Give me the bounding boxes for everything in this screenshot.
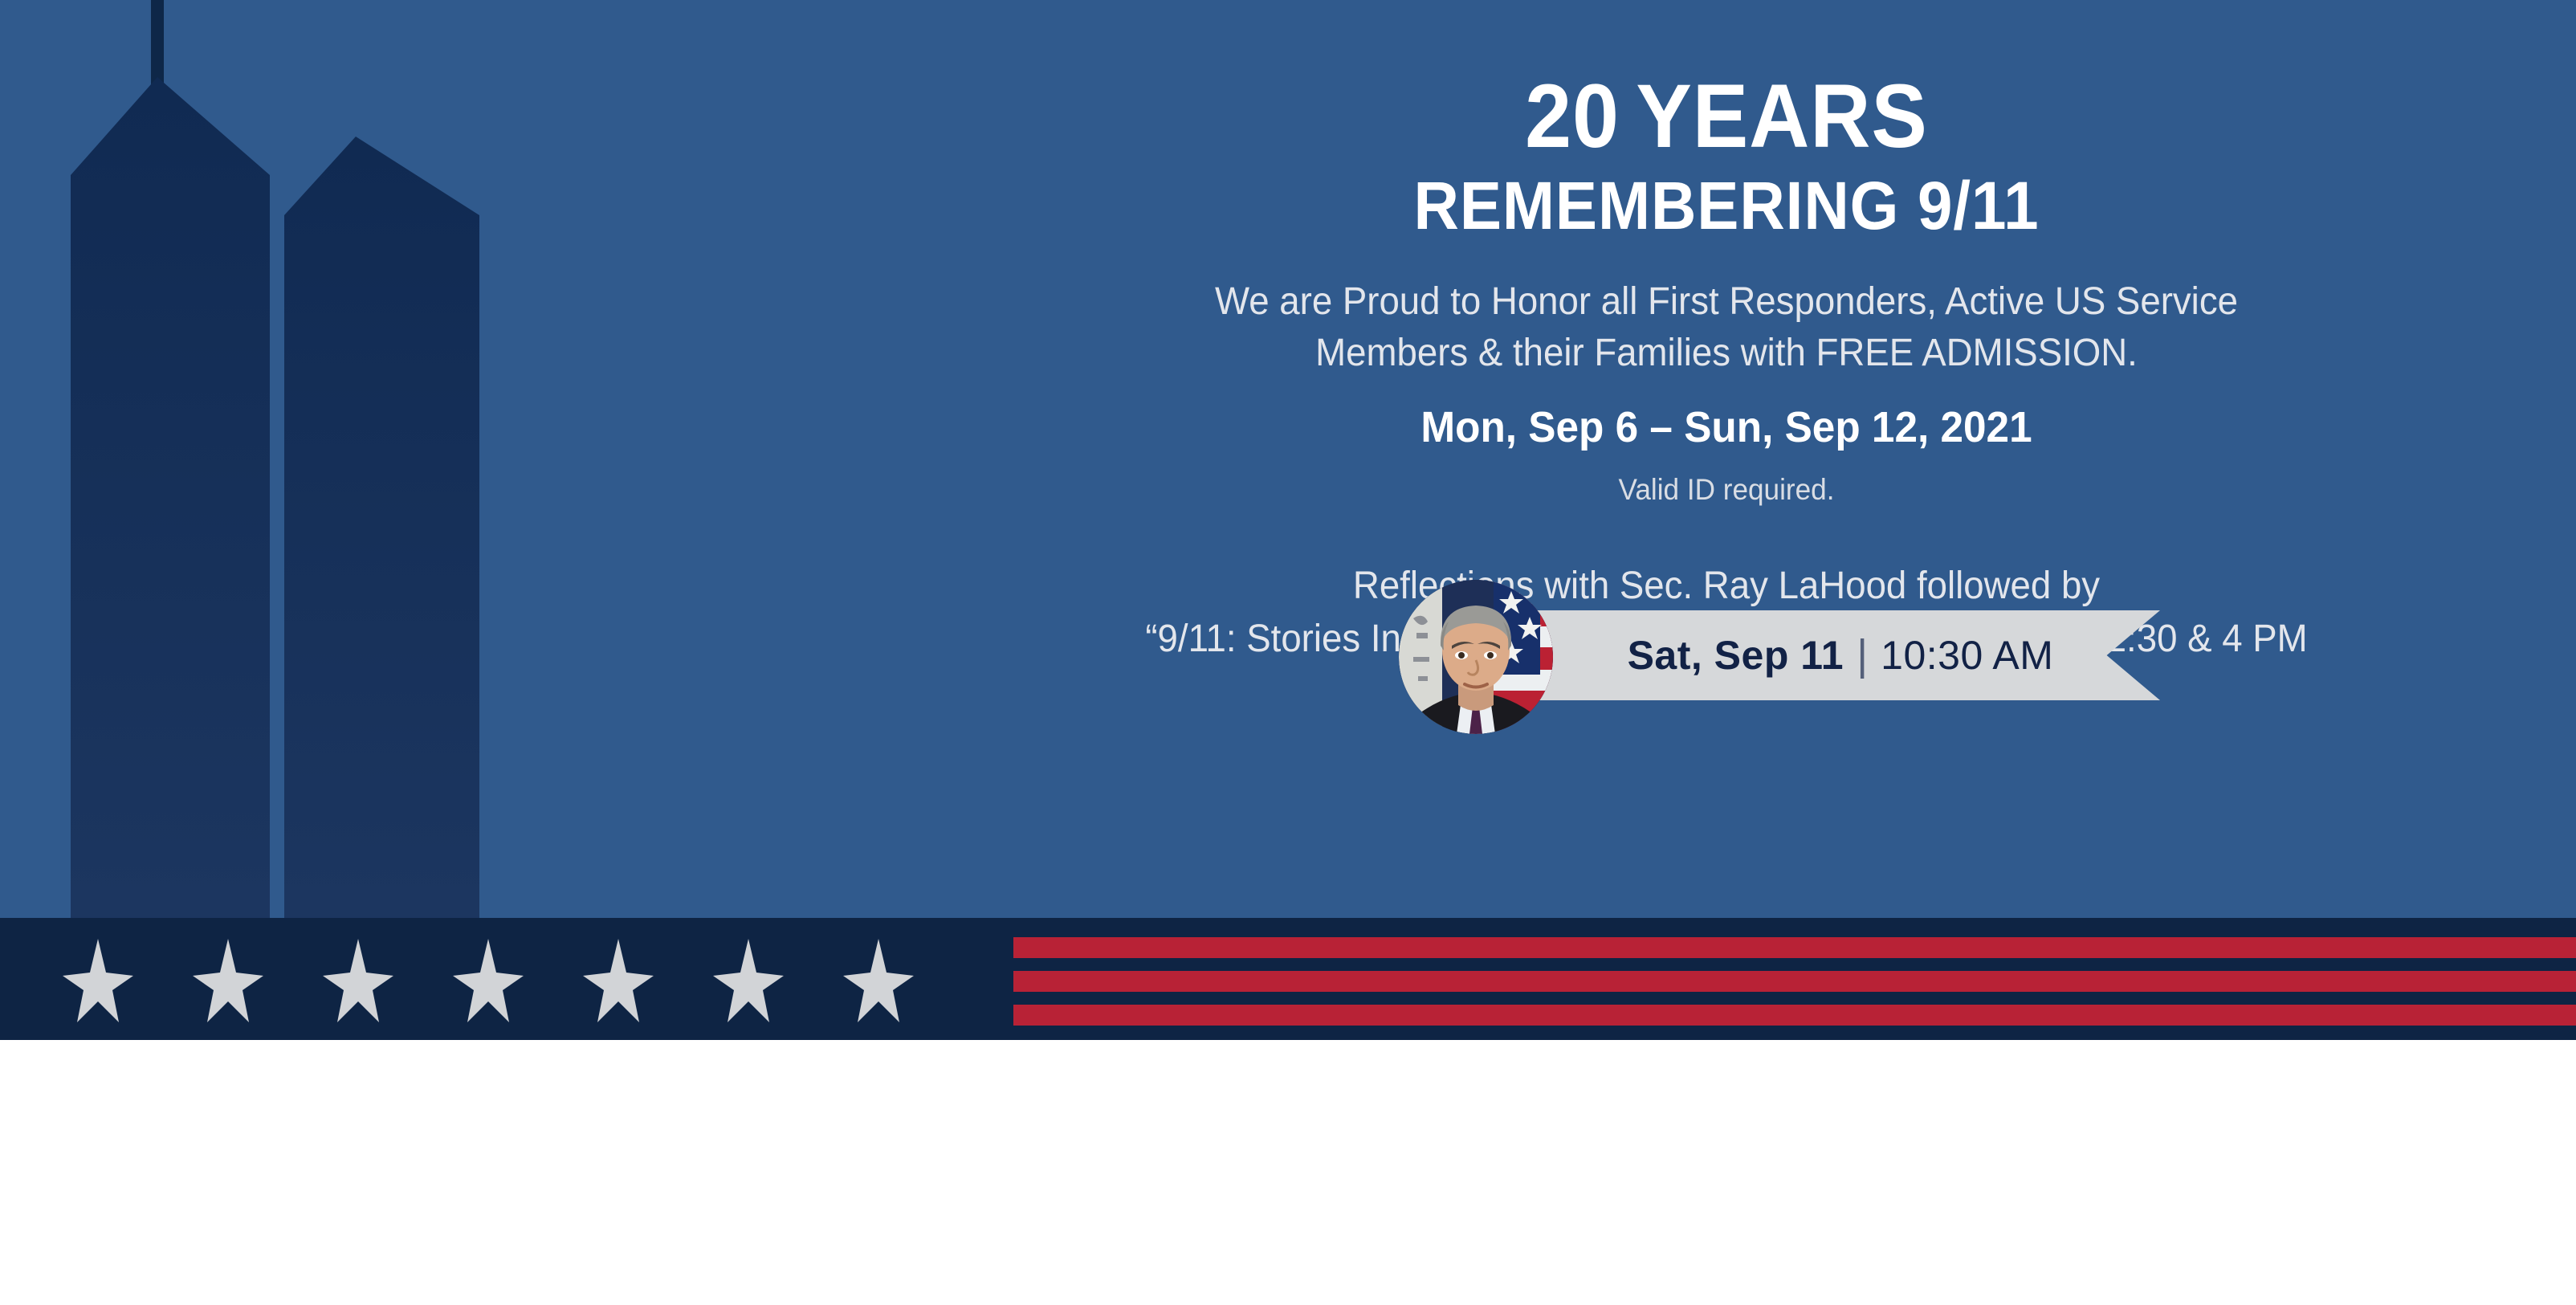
star-icon	[843, 939, 914, 1022]
avatar	[1399, 580, 1553, 734]
stripe	[1013, 1005, 2576, 1026]
valid-id-note: Valid ID required.	[1063, 473, 2391, 507]
ribbon-separator: |	[1857, 630, 1868, 680]
twin-towers-silhouette	[0, 0, 1044, 918]
star-icon	[713, 939, 784, 1022]
ribbon-date: Sat, Sep 11	[1628, 632, 1844, 679]
portrait-image	[1399, 580, 1553, 734]
event-date-range: Mon, Sep 6 – Sun, Sep 12, 2021	[1063, 402, 2391, 452]
lede-line-2: Members & their Families with FREE ADMIS…	[1063, 328, 2391, 378]
page-title: 20YEARS	[1077, 71, 2376, 162]
star-icon	[583, 939, 654, 1022]
feature-event-ribbon: Sat, Sep 11 | 10:30 AM	[1399, 577, 2162, 737]
poster-root: 20YEARS REMEMBERING 9/11 We are Proud to…	[0, 0, 2576, 1305]
hero-copy: 20YEARS REMEMBERING 9/11 We are Proud to…	[1028, 0, 2425, 918]
stripes-group	[1013, 918, 2576, 1040]
star-icon	[453, 939, 524, 1022]
stripe	[1013, 971, 2576, 992]
headline-years: YEARS	[1636, 66, 1928, 166]
lede-text: We are Proud to Honor all First Responde…	[1063, 276, 2391, 378]
page-subtitle: REMEMBERING 9/11	[1077, 170, 2376, 241]
lede-line-1: We are Proud to Honor all First Responde…	[1063, 276, 2391, 327]
ribbon-label: Sat, Sep 11 | 10:30 AM	[1584, 610, 2097, 700]
stars-group	[63, 939, 914, 1022]
stripe	[1013, 937, 2576, 958]
ribbon-time: 10:30 AM	[1881, 632, 2053, 679]
star-icon	[193, 939, 263, 1022]
headline-20: 20	[1525, 66, 1620, 166]
star-icon	[63, 939, 133, 1022]
footer-section: Sponsored by PRAIRIE HOME ALLIANCE Visio…	[0, 1040, 2576, 1305]
stars-stripes-band	[0, 918, 2576, 1040]
star-icon	[323, 939, 393, 1022]
hero-section: 20YEARS REMEMBERING 9/11 We are Proud to…	[0, 0, 2576, 918]
